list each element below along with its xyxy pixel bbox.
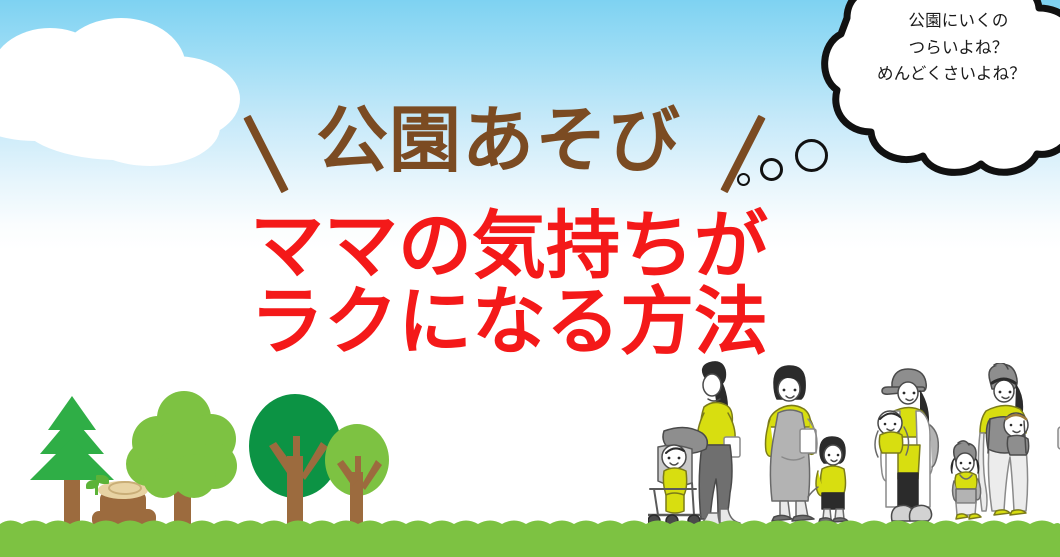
mother-cradling-baby: [1052, 363, 1060, 529]
mothers-and-children-illustration: [648, 359, 1060, 529]
thought-tail-circle-large: [795, 139, 828, 172]
cloud-shape: [0, 18, 290, 168]
thought-line-1: 公園にいくの: [851, 8, 1060, 35]
small-round-tree: [318, 424, 396, 529]
eyebrow-heading: 公園あそび: [316, 105, 736, 177]
thought-line-2: つらいよね？: [851, 35, 1060, 62]
mother-with-stroller: [648, 361, 756, 529]
bushy-tree-art: [118, 384, 248, 529]
bushy-tree: [118, 384, 248, 529]
sprout-leaf-right: [96, 475, 109, 484]
thought-tail-circle-medium: [760, 158, 783, 181]
small-round-tree-art: [318, 424, 396, 529]
thought-line-3: めんどくさいよね？: [837, 61, 1060, 88]
main-title: ママの気持ちが ラクになる方法: [250, 208, 810, 360]
banner-canvas: 公園にいくの つらいよね？ めんどくさいよね？ 公園あそび ママの気持ちが ラク…: [0, 0, 1060, 557]
mother-holding-childs-hand: [756, 363, 854, 529]
grass-strip: [0, 525, 1060, 557]
mother-with-baby-sling: [854, 361, 950, 529]
main-title-line-1: ママの気持ちが: [250, 208, 810, 284]
mother-with-baby-carrier: [950, 363, 1052, 529]
thought-bubble-text: 公園にいくの つらいよね？ めんどくさいよね？: [851, 8, 1060, 88]
thought-tail-circle-small: [737, 173, 750, 186]
main-title-line-2: ラクになる方法: [250, 284, 810, 360]
